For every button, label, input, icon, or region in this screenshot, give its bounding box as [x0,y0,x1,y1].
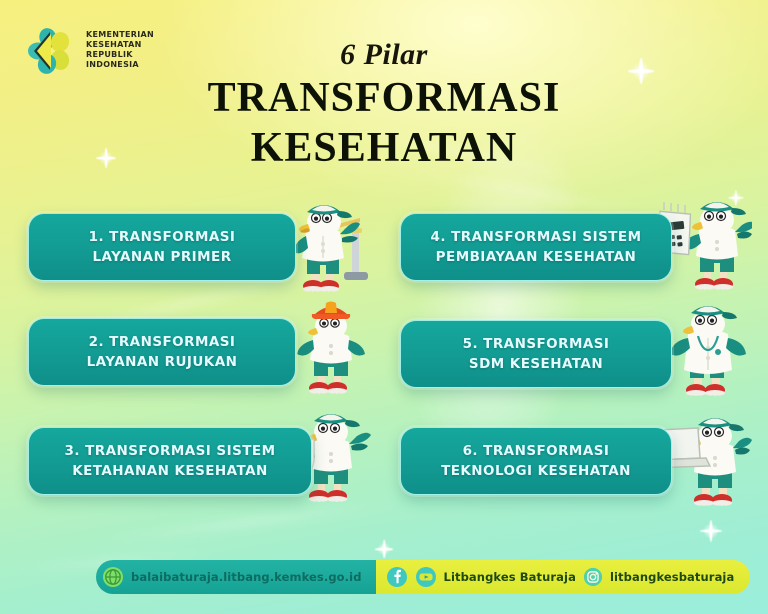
sparkle-icon [375,540,393,558]
poster-canvas: KEMENTERIAN KESEHATAN REPUBLIK INDONESIA… [0,0,768,614]
pillar-card-5[interactable]: 5. TRANSFORMASI SDM KESEHATAN [400,320,672,388]
pillar-card-4[interactable]: 4. TRANSFORMASI SISTEM PEMBIAYAAN KESEHA… [400,213,672,281]
pillar-card-6-line-2: TEKNOLOGI KESEHATAN [441,461,631,481]
youtube-icon[interactable] [415,566,437,588]
footer-website-pill[interactable]: balaibaturaja.litbang.kemkes.go.id [96,560,376,594]
pillar-card-2-line-2: LAYANAN RUJUKAN [87,352,238,372]
instagram-icon[interactable] [583,567,603,587]
sparkle-icon [700,520,722,542]
pillar-card-2[interactable]: 2. TRANSFORMASI LAYANAN RUJUKAN [28,318,296,386]
sparkle-icon [728,190,744,206]
footer-bar: balaibaturaja.litbang.kemkes.go.id Litba… [96,560,750,594]
pillar-card-5-label: 5. TRANSFORMASI SDM KESEHATAN [463,334,610,375]
pillar-card-1-label: 1. TRANSFORMASI LAYANAN PRIMER [89,227,236,268]
pillar-card-4-line-2: PEMBIAYAAN KESEHATAN [431,247,642,267]
pillar-card-1[interactable]: 1. TRANSFORMASI LAYANAN PRIMER [28,213,296,281]
footer-social-pill[interactable]: Litbangkes Baturaja litbangkesbaturaja [376,560,751,594]
pillar-card-6-label: 6. TRANSFORMASI TEKNOLOGI KESEHATAN [441,441,631,482]
title-main: TRANSFORMASI KESEHATAN [0,74,768,173]
mascot-bird-doctor-coat [662,300,754,400]
pillar-card-1-line-2: LAYANAN PRIMER [89,247,236,267]
footer-website-text: balaibaturaja.litbang.kemkes.go.id [131,570,362,584]
pillar-card-1-line-1: 1. TRANSFORMASI [89,227,236,247]
footer-instagram-handle: litbangkesbaturaja [610,570,734,584]
pillar-card-3-label: 3. TRANSFORMASI SISTEM KETAHANAN KESEHAT… [65,441,276,482]
pillar-card-4-label: 4. TRANSFORMASI SISTEM PEMBIAYAAN KESEHA… [431,227,642,268]
pillar-card-6-line-1: 6. TRANSFORMASI [441,441,631,461]
pillar-card-3-line-2: KETAHANAN KESEHATAN [65,461,276,481]
mascot-bird-hard-hat [292,300,376,398]
title-main-line-2: KESEHATAN [0,124,768,174]
pillar-card-3[interactable]: 3. TRANSFORMASI SISTEM KETAHANAN KESEHAT… [28,427,312,495]
pillar-card-3-line-1: 3. TRANSFORMASI SISTEM [65,441,276,461]
footer-social-name: Litbangkes Baturaja [444,570,576,584]
globe-icon [102,566,124,588]
page-title: 6 Pilar TRANSFORMASI KESEHATAN [0,38,768,173]
pillar-card-5-line-1: 5. TRANSFORMASI [463,334,610,354]
pillar-card-4-line-1: 4. TRANSFORMASI SISTEM [431,227,642,247]
pillar-card-2-line-1: 2. TRANSFORMASI [87,332,238,352]
pillar-card-2-label: 2. TRANSFORMASI LAYANAN RUJUKAN [87,332,238,373]
title-main-line-1: TRANSFORMASI [208,75,561,121]
facebook-icon[interactable] [386,566,408,588]
title-subheading: 6 Pilar [0,38,768,72]
pillar-card-5-line-2: SDM KESEHATAN [463,354,610,374]
pillar-card-6[interactable]: 6. TRANSFORMASI TEKNOLOGI KESEHATAN [400,427,672,495]
